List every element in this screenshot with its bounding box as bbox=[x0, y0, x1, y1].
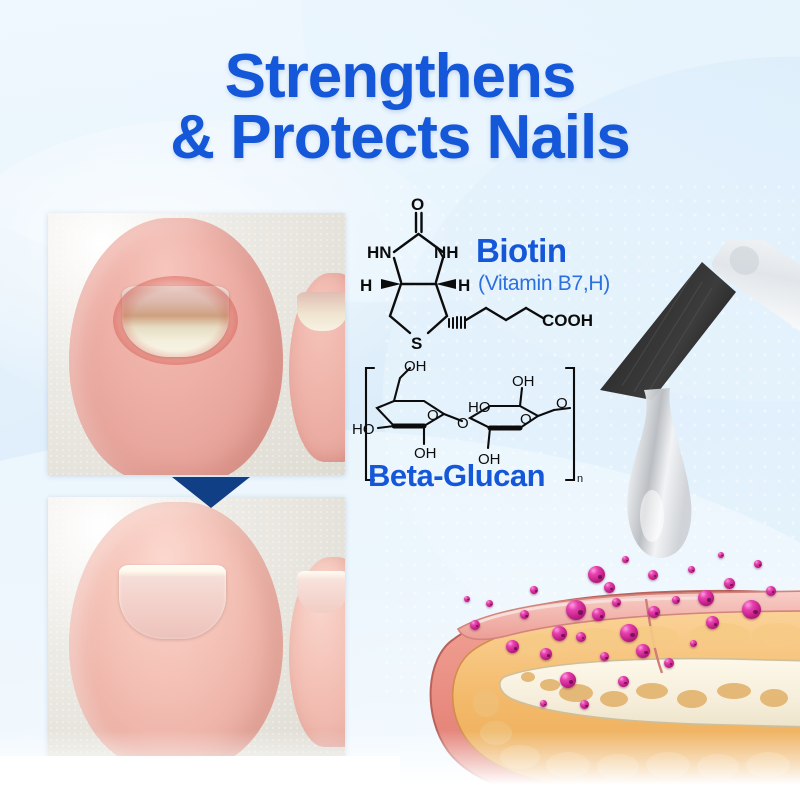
biotin-label: Biotin bbox=[476, 232, 566, 270]
brush-applicator bbox=[560, 240, 800, 640]
wedge-left bbox=[381, 279, 401, 289]
before-photo bbox=[48, 213, 345, 475]
transition-arrow-icon bbox=[172, 477, 250, 508]
atom-label-OH-1: OH bbox=[404, 358, 427, 375]
serum-particle bbox=[540, 700, 547, 707]
headline-line-1: Strengthens bbox=[0, 46, 800, 107]
serum-particle bbox=[530, 586, 538, 594]
serum-particle bbox=[636, 644, 650, 658]
atom-label-OH-3: OH bbox=[512, 373, 535, 390]
after-photo bbox=[48, 497, 345, 760]
serum-particle bbox=[470, 620, 480, 630]
serum-particle bbox=[664, 658, 674, 668]
serum-particle bbox=[618, 676, 629, 687]
after-toenail bbox=[119, 565, 226, 639]
atom-label-O: O bbox=[411, 196, 424, 214]
serum-particle bbox=[580, 700, 589, 709]
atom-label-O-ring1: O bbox=[427, 407, 439, 424]
atom-label-O-ring2: O bbox=[520, 411, 532, 428]
serum-particle bbox=[520, 610, 529, 619]
serum-particle bbox=[540, 648, 552, 660]
beta-glucan-label: Beta-Glucan bbox=[368, 458, 545, 494]
headline: Strengthens & Protects Nails bbox=[0, 46, 800, 169]
serum-particle bbox=[506, 640, 519, 653]
droplet-highlight bbox=[640, 490, 664, 542]
atom-label-S: S bbox=[411, 334, 422, 353]
brush-svg bbox=[560, 240, 800, 640]
brush-bristles bbox=[600, 262, 736, 400]
biotin-sublabel: (Vitamin B7,H) bbox=[478, 272, 610, 296]
atom-label-HO-2: HO bbox=[468, 399, 491, 416]
serum-particle bbox=[486, 600, 493, 607]
atom-label-O-link: O bbox=[457, 415, 469, 432]
atom-label-H-left: H bbox=[360, 276, 372, 295]
atom-label-HO-1: HO bbox=[352, 421, 375, 438]
atom-label-NH: NH bbox=[434, 243, 459, 262]
after-second-toenail bbox=[297, 571, 345, 613]
ad-canvas: Strengthens & Protects Nails bbox=[0, 0, 800, 800]
before-second-toenail bbox=[297, 292, 345, 331]
atom-label-HN: HN bbox=[367, 243, 392, 262]
serum-particle bbox=[600, 652, 609, 661]
serum-particle bbox=[560, 672, 576, 688]
headline-line-2: & Protects Nails bbox=[0, 107, 800, 168]
serum-particle bbox=[464, 596, 470, 602]
before-inflammation bbox=[113, 276, 238, 365]
bottom-left-mask bbox=[0, 756, 400, 800]
wedge-right bbox=[436, 279, 456, 289]
atom-label-H-right: H bbox=[458, 276, 470, 295]
serum-particle bbox=[690, 640, 697, 647]
